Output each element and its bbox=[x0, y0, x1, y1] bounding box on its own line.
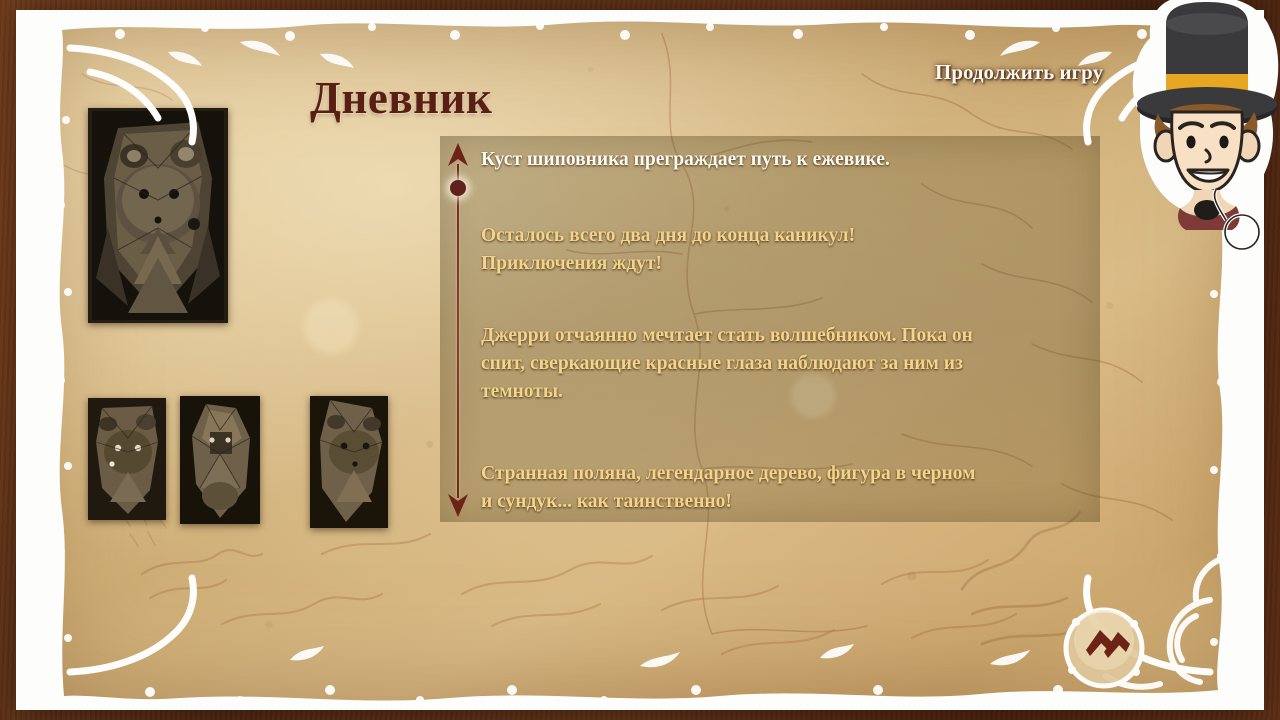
diary-entry-line: Осталось всего два дня до конца каникул! bbox=[481, 222, 1081, 250]
diary-entry: Осталось всего два дня до конца каникул!… bbox=[481, 222, 1081, 278]
diary-entry-line: Странная поляна, легендарное дерево, фиг… bbox=[481, 460, 1081, 488]
back-button[interactable] bbox=[1056, 600, 1152, 696]
continue-game-button[interactable]: Продолжить игру bbox=[931, 58, 1107, 87]
diary-entry: Джерри отчаянно мечтает стать волшебнико… bbox=[481, 322, 1081, 406]
diary-artwork-main[interactable] bbox=[88, 108, 228, 323]
diary-entry-list: Куст шиповника преграждает путь к ежевик… bbox=[481, 146, 1081, 516]
diary-entry: Странная поляна, легендарное дерево, фиг… bbox=[481, 460, 1081, 516]
diary-entry-line: и сундук... как таинственно! bbox=[481, 488, 1081, 516]
scroll-down-arrow-icon[interactable] bbox=[446, 492, 470, 518]
diary-artwork-gallery bbox=[80, 108, 410, 533]
scroll-up-arrow-icon[interactable] bbox=[446, 142, 470, 168]
diary-entry-line: Джерри отчаянно мечтает стать волшебнико… bbox=[481, 322, 1081, 350]
diary-artwork-thumb-3[interactable] bbox=[310, 396, 388, 528]
page-title: Дневник bbox=[310, 72, 492, 124]
diary-entry-line: спит, сверкающие красные глаза наблюдают… bbox=[481, 350, 1081, 378]
diary-entry-line: темноты. bbox=[481, 378, 1081, 406]
diary-entry: Куст шиповника преграждает путь к ежевик… bbox=[481, 146, 1081, 174]
diary-entry-line: Куст шиповника преграждает путь к ежевик… bbox=[481, 146, 1081, 174]
game-screen: Куст шиповника преграждает путь к ежевик… bbox=[0, 0, 1280, 720]
diary-artwork-thumb-2[interactable] bbox=[180, 396, 260, 524]
diary-entry-line: Приключения ждут! bbox=[481, 250, 1081, 278]
diary-artwork-thumb-1[interactable] bbox=[88, 398, 166, 520]
scrollbar-thumb[interactable] bbox=[450, 180, 466, 196]
scrollbar-track[interactable] bbox=[457, 164, 459, 498]
mascot-character-jerry bbox=[1120, 0, 1280, 256]
diary-scrollbar[interactable] bbox=[440, 140, 476, 522]
